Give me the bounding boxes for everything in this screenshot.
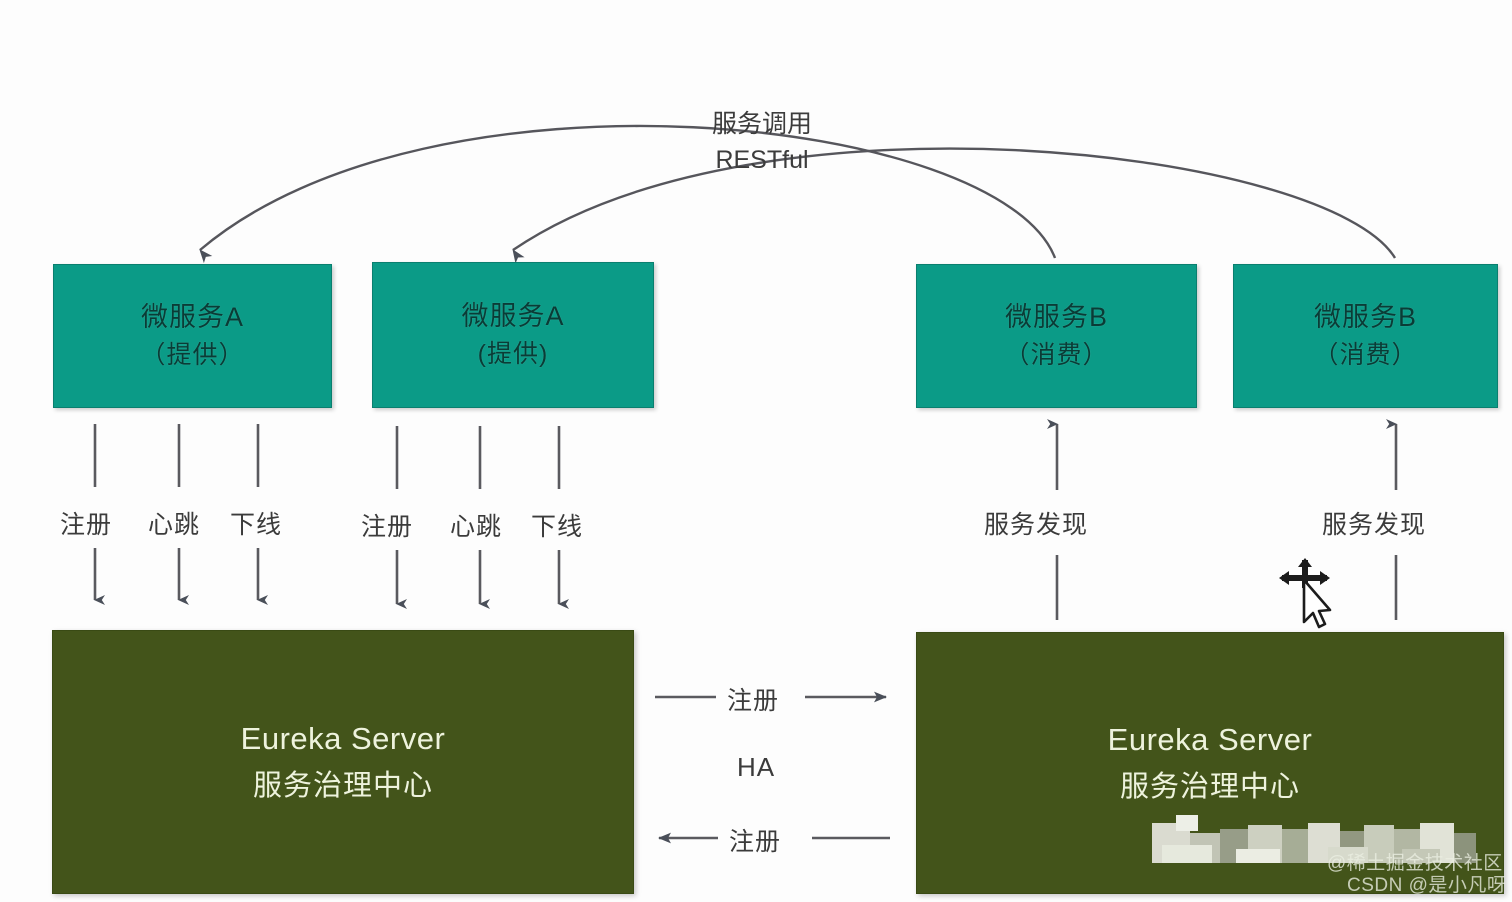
edge-label-register-1: 注册 xyxy=(60,505,112,541)
service-node-subtitle: （消费） xyxy=(1313,339,1417,372)
edge-label-heartbeat-1: 心跳 xyxy=(148,505,200,541)
arc-label-restful: 服务调用 RESTful xyxy=(712,106,812,179)
move-cursor xyxy=(1276,558,1336,635)
edge-label-offline-2: 下线 xyxy=(531,507,583,543)
service-node-provider-a-2[interactable]: 微服务A (提供) xyxy=(372,262,654,408)
service-node-subtitle: (提供) xyxy=(478,338,549,371)
service-node-subtitle: （提供） xyxy=(140,339,244,372)
edge-label-discovery-2: 服务发现 xyxy=(1322,505,1426,541)
eureka-subtitle: 服务治理中心 xyxy=(253,762,433,804)
diagram-canvas: 服务调用 RESTful 微服务A （提供） 微服务A (提供) 微服务B （消… xyxy=(0,0,1512,902)
watermark-csdn: CSDN @是小凡呀 xyxy=(1347,870,1506,897)
service-node-title: 微服务B xyxy=(1005,300,1108,336)
service-node-consumer-b-1[interactable]: 微服务B （消费） xyxy=(916,264,1197,408)
ha-label-mode: HA xyxy=(737,752,775,783)
eureka-subtitle: 服务治理中心 xyxy=(1120,763,1300,805)
edge-label-register-2: 注册 xyxy=(361,507,413,543)
arc-restful-call-1 xyxy=(200,126,1055,258)
service-node-consumer-b-2[interactable]: 微服务B （消费） xyxy=(1233,264,1498,408)
eureka-title: Eureka Server xyxy=(241,721,446,757)
arc-label-line1: 服务调用 xyxy=(712,106,812,142)
service-node-subtitle: （消费） xyxy=(1004,339,1108,372)
service-node-provider-a-1[interactable]: 微服务A （提供） xyxy=(53,264,332,408)
service-node-title: 微服务A xyxy=(141,300,244,336)
edge-label-offline-1: 下线 xyxy=(230,505,282,541)
edge-label-discovery-1: 服务发现 xyxy=(984,505,1088,541)
service-node-title: 微服务A xyxy=(461,299,564,335)
eureka-title: Eureka Server xyxy=(1108,722,1313,758)
edge-label-heartbeat-2: 心跳 xyxy=(450,507,502,543)
arc-label-line2: RESTful xyxy=(712,142,812,178)
service-node-title: 微服务B xyxy=(1314,300,1417,336)
arc-restful-call-2 xyxy=(513,149,1395,258)
ha-label-register-bottom: 注册 xyxy=(729,822,781,858)
ha-label-register-top: 注册 xyxy=(727,681,779,717)
eureka-server-left[interactable]: Eureka Server 服务治理中心 xyxy=(52,630,634,894)
